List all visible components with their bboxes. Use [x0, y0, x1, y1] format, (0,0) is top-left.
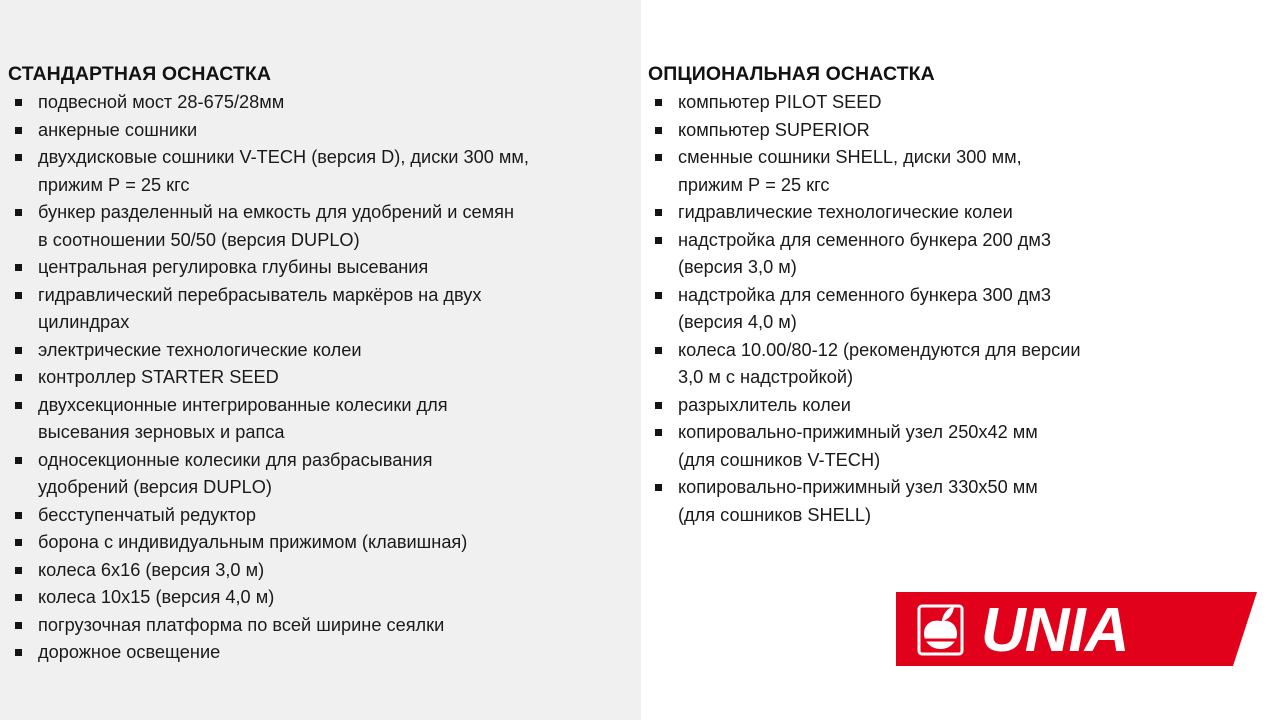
bullet-square-icon [15, 292, 22, 299]
list-item: колеса 6х16 (версия 3,0 м) [8, 557, 636, 585]
bullet-square-icon [655, 402, 662, 409]
list-item: контроллер STARTER SEED [8, 364, 636, 392]
list-item-line2: в соотношении 50/50 (версия DUPLO) [38, 227, 636, 255]
list-item: центральная регулировка глубины высевани… [8, 254, 636, 282]
list-item: борона с индивидуальным прижимом (клавиш… [8, 529, 636, 557]
list-item-line2: прижим Р = 25 кгс [38, 172, 636, 200]
bullet-square-icon [655, 292, 662, 299]
list-item: анкерные сошники [8, 117, 636, 145]
list-item-line1: двухдисковые сошники V-TECH (версия D), … [38, 147, 529, 167]
list-item-line2: высевания зерновых и рапса [38, 419, 636, 447]
list-item-line2: 3,0 м с надстройкой) [678, 364, 1248, 392]
bullet-square-icon [15, 539, 22, 546]
list-item: односекционные колесики для разбрасывани… [8, 447, 636, 502]
list-item-text: сменные сошники SHELL, диски 300 мм,приж… [678, 144, 1248, 199]
bullet-square-icon [655, 99, 662, 106]
standard-equipment-column: СТАНДАРТНАЯ ОСНАСТКА подвесной мост 28-6… [8, 62, 636, 667]
list-item: бункер разделенный на емкость для удобре… [8, 199, 636, 254]
optional-equipment-column: ОПЦИОНАЛЬНАЯ ОСНАСТКА компьютер PILOT SE… [648, 62, 1248, 529]
list-item-line2: (для сошников V-TECH) [678, 447, 1248, 475]
bullet-square-icon [15, 127, 22, 134]
bullet-square-icon [15, 594, 22, 601]
list-item: копировально-прижимный узел 250х42 мм(дл… [648, 419, 1248, 474]
list-item: копировально-прижимный узел 330х50 мм(дл… [648, 474, 1248, 529]
list-item-line1: колеса 10.00/80-12 (рекомендуются для ве… [678, 340, 1081, 360]
list-item-line1: погрузочная платформа по всей ширине сея… [38, 615, 444, 635]
list-item-text: электрические технологические колеи [38, 337, 636, 365]
list-item-line1: бесступенчатый редуктор [38, 505, 256, 525]
bullet-square-icon [655, 347, 662, 354]
list-item: сменные сошники SHELL, диски 300 мм,приж… [648, 144, 1248, 199]
list-item-line1: односекционные колесики для разбрасывани… [38, 450, 432, 470]
list-item-text: колеса 10.00/80-12 (рекомендуются для ве… [678, 337, 1248, 392]
list-item: подвесной мост 28-675/28мм [8, 89, 636, 117]
list-item-text: погрузочная платформа по всей ширине сея… [38, 612, 636, 640]
list-item-text: колеса 6х16 (версия 3,0 м) [38, 557, 636, 585]
bullet-square-icon [15, 622, 22, 629]
list-item-text: односекционные колесики для разбрасывани… [38, 447, 636, 502]
list-item: разрыхлитель колеи [648, 392, 1248, 420]
list-item-line1: центральная регулировка глубины высевани… [38, 257, 428, 277]
list-item-line2: удобрений (версия DUPLO) [38, 474, 636, 502]
bullet-square-icon [655, 484, 662, 491]
bullet-square-icon [655, 237, 662, 244]
bullet-square-icon [15, 264, 22, 271]
list-item-line1: двухсекционные интегрированные колесики … [38, 395, 448, 415]
optional-equipment-list: компьютер PILOT SEEDкомпьютер SUPERIORсм… [648, 89, 1248, 529]
list-item-text: двухсекционные интегрированные колесики … [38, 392, 636, 447]
list-item-line2: (версия 3,0 м) [678, 254, 1248, 282]
optional-equipment-heading: ОПЦИОНАЛЬНАЯ ОСНАСТКА [648, 62, 1248, 86]
list-item-text: центральная регулировка глубины высевани… [38, 254, 636, 282]
list-item: дорожное освещение [8, 639, 636, 667]
list-item-text: подвесной мост 28-675/28мм [38, 89, 636, 117]
list-item-text: борона с индивидуальным прижимом (клавиш… [38, 529, 636, 557]
list-item-text: колеса 10х15 (версия 4,0 м) [38, 584, 636, 612]
list-item-text: двухдисковые сошники V-TECH (версия D), … [38, 144, 636, 199]
list-item-line1: копировально-прижимный узел 250х42 мм [678, 422, 1038, 442]
list-item-line1: борона с индивидуальным прижимом (клавиш… [38, 532, 467, 552]
standard-equipment-list: подвесной мост 28-675/28мманкерные сошни… [8, 89, 636, 667]
bullet-square-icon [15, 374, 22, 381]
list-item-line2: (версия 4,0 м) [678, 309, 1248, 337]
bullet-square-icon [15, 512, 22, 519]
list-item-line1: разрыхлитель колеи [678, 395, 851, 415]
bullet-square-icon [15, 567, 22, 574]
list-item-line1: дорожное освещение [38, 642, 220, 662]
list-item-text: бесступенчатый редуктор [38, 502, 636, 530]
list-item-line1: сменные сошники SHELL, диски 300 мм, [678, 147, 1022, 167]
list-item: гидравлический перебрасыватель маркёров … [8, 282, 636, 337]
list-item-line2: цилиндрах [38, 309, 636, 337]
list-item-text: дорожное освещение [38, 639, 636, 667]
list-item-text: гидравлические технологические колеи [678, 199, 1248, 227]
list-item-text: надстройка для семенного бункера 300 дм3… [678, 282, 1248, 337]
list-item-text: бункер разделенный на емкость для удобре… [38, 199, 636, 254]
list-item-text: гидравлический перебрасыватель маркёров … [38, 282, 636, 337]
bullet-square-icon [655, 209, 662, 216]
list-item: колеса 10.00/80-12 (рекомендуются для ве… [648, 337, 1248, 392]
list-item-line1: копировально-прижимный узел 330х50 мм [678, 477, 1038, 497]
list-item-text: копировально-прижимный узел 330х50 мм(дл… [678, 474, 1248, 529]
list-item: двухдисковые сошники V-TECH (версия D), … [8, 144, 636, 199]
list-item: компьютер SUPERIOR [648, 117, 1248, 145]
list-item-text: контроллер STARTER SEED [38, 364, 636, 392]
list-item-line1: гидравлический перебрасыватель маркёров … [38, 285, 481, 305]
bullet-square-icon [15, 402, 22, 409]
list-item-line1: компьютер PILOT SEED [678, 92, 882, 112]
logo-wordmark-text: UNIA [981, 596, 1129, 665]
bullet-square-icon [15, 347, 22, 354]
list-item-line1: гидравлические технологические колеи [678, 202, 1013, 222]
bullet-square-icon [655, 127, 662, 134]
bullet-square-icon [655, 429, 662, 436]
list-item-line1: контроллер STARTER SEED [38, 367, 279, 387]
list-item: бесступенчатый редуктор [8, 502, 636, 530]
list-item-line1: бункер разделенный на емкость для удобре… [38, 202, 514, 222]
bullet-square-icon [15, 457, 22, 464]
list-item-text: анкерные сошники [38, 117, 636, 145]
list-item-line1: надстройка для семенного бункера 300 дм3 [678, 285, 1051, 305]
list-item: надстройка для семенного бункера 200 дм3… [648, 227, 1248, 282]
list-item-line1: анкерные сошники [38, 120, 197, 140]
standard-equipment-heading: СТАНДАРТНАЯ ОСНАСТКА [8, 62, 636, 86]
list-item-line1: подвесной мост 28-675/28мм [38, 92, 284, 112]
bullet-square-icon [15, 154, 22, 161]
list-item-text: надстройка для семенного бункера 200 дм3… [678, 227, 1248, 282]
list-item-line1: колеса 10х15 (версия 4,0 м) [38, 587, 274, 607]
list-item-text: компьютер SUPERIOR [678, 117, 1248, 145]
list-item: погрузочная платформа по всей ширине сея… [8, 612, 636, 640]
bullet-square-icon [15, 99, 22, 106]
list-item-line1: колеса 6х16 (версия 3,0 м) [38, 560, 264, 580]
list-item-text: копировально-прижимный узел 250х42 мм(дл… [678, 419, 1248, 474]
list-item: компьютер PILOT SEED [648, 89, 1248, 117]
bullet-square-icon [15, 649, 22, 656]
bullet-square-icon [15, 209, 22, 216]
unia-logo: UNIA [893, 588, 1257, 670]
list-item-line2: (для сошников SHELL) [678, 502, 1248, 530]
list-item: колеса 10х15 (версия 4,0 м) [8, 584, 636, 612]
list-item-text: разрыхлитель колеи [678, 392, 1248, 420]
list-item-line1: электрические технологические колеи [38, 340, 362, 360]
list-item-text: компьютер PILOT SEED [678, 89, 1248, 117]
list-item-line2: прижим Р = 25 кгс [678, 172, 1248, 200]
list-item-line1: компьютер SUPERIOR [678, 120, 870, 140]
list-item: надстройка для семенного бункера 300 дм3… [648, 282, 1248, 337]
bullet-square-icon [655, 154, 662, 161]
list-item: гидравлические технологические колеи [648, 199, 1248, 227]
list-item: двухсекционные интегрированные колесики … [8, 392, 636, 447]
list-item-line1: надстройка для семенного бункера 200 дм3 [678, 230, 1051, 250]
list-item: электрические технологические колеи [8, 337, 636, 365]
slide-canvas: СТАНДАРТНАЯ ОСНАСТКА подвесной мост 28-6… [0, 0, 1280, 720]
